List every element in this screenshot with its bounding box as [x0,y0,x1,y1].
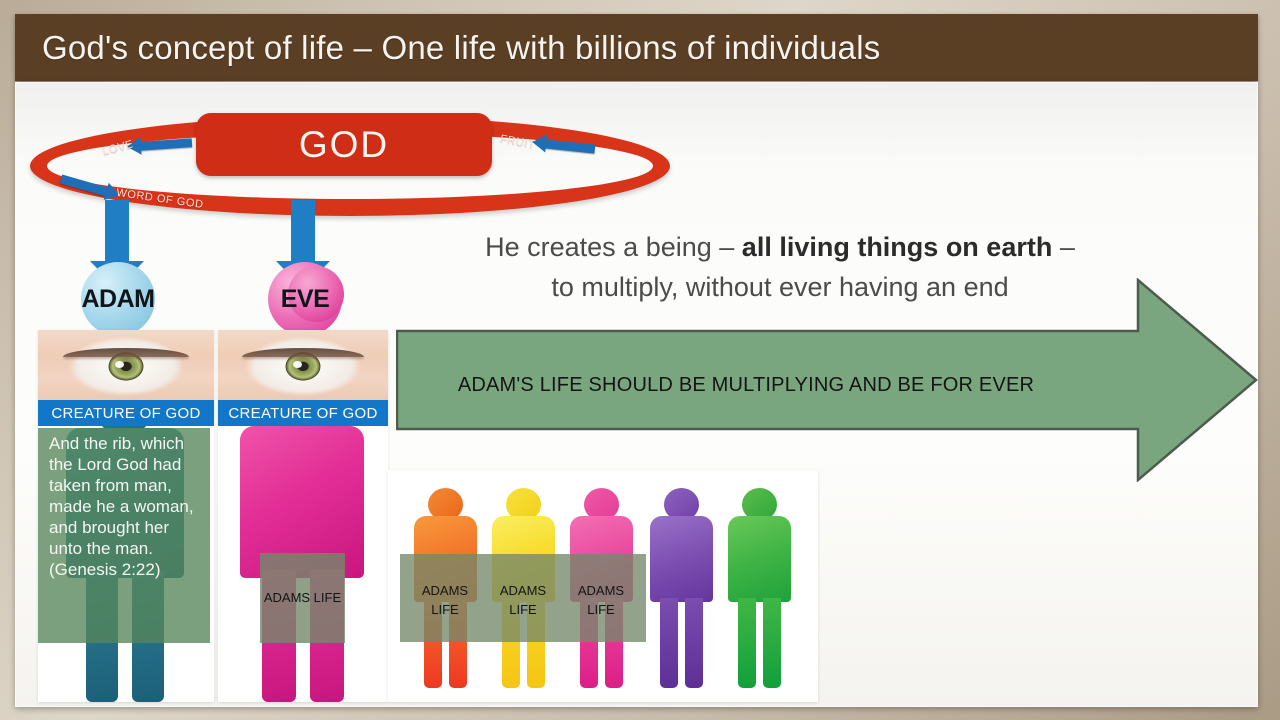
crowd-card: ADAMS LIFE ADAMS LIFE ADAMS LIFE [388,470,818,702]
adam-label: ADAM [82,285,155,314]
god-label: GOD [299,124,389,166]
adams-life-label-orange: ADAMS LIFE [410,582,480,620]
statement-line1-bold: all living things on earth [742,232,1053,262]
eye-photo-adam [38,330,214,400]
creature-of-god-banner-adam: CREATURE OF GOD [38,400,214,426]
statement-line1-pre: He creates a being – [485,232,742,262]
arrow-down-icon-eve [291,200,315,262]
eve-card: CREATURE OF GOD [218,330,388,702]
creature-of-god-banner-eve: CREATURE OF GOD [218,400,388,426]
green-arrow-label: ADAM'S LIFE SHOULD BE MULTIPLYING AND BE… [396,374,1096,397]
slide-title-bar: God's concept of life – One life with bi… [15,14,1258,81]
crowd-figure-icon-purple [650,488,713,688]
adams-life-label-pink: ADAMS LIFE [566,582,636,620]
page-title: God's concept of life – One life with bi… [42,29,880,67]
god-box: GOD [196,113,492,176]
eve-label: EVE [281,285,330,314]
eve-figure-icon [234,384,370,702]
statement-line1-post: – [1052,232,1075,262]
genesis-quote-text: And the rib, which the Lord God had take… [49,433,201,581]
genesis-quote-box: And the rib, which the Lord God had take… [38,428,210,643]
crowd-figure-icon-green [728,488,791,688]
eve-head-bubble: EVE [268,262,342,336]
adam-head-bubble: ADAM [81,262,155,336]
arrow-down-icon-adam [105,200,129,262]
adams-life-label-yellow: ADAMS LIFE [488,582,558,620]
adams-life-band-eve: ADAMS LIFE [260,553,345,643]
green-block-arrow: ADAM'S LIFE SHOULD BE MULTIPLYING AND BE… [396,278,1258,482]
eye-photo-eve [218,330,388,400]
